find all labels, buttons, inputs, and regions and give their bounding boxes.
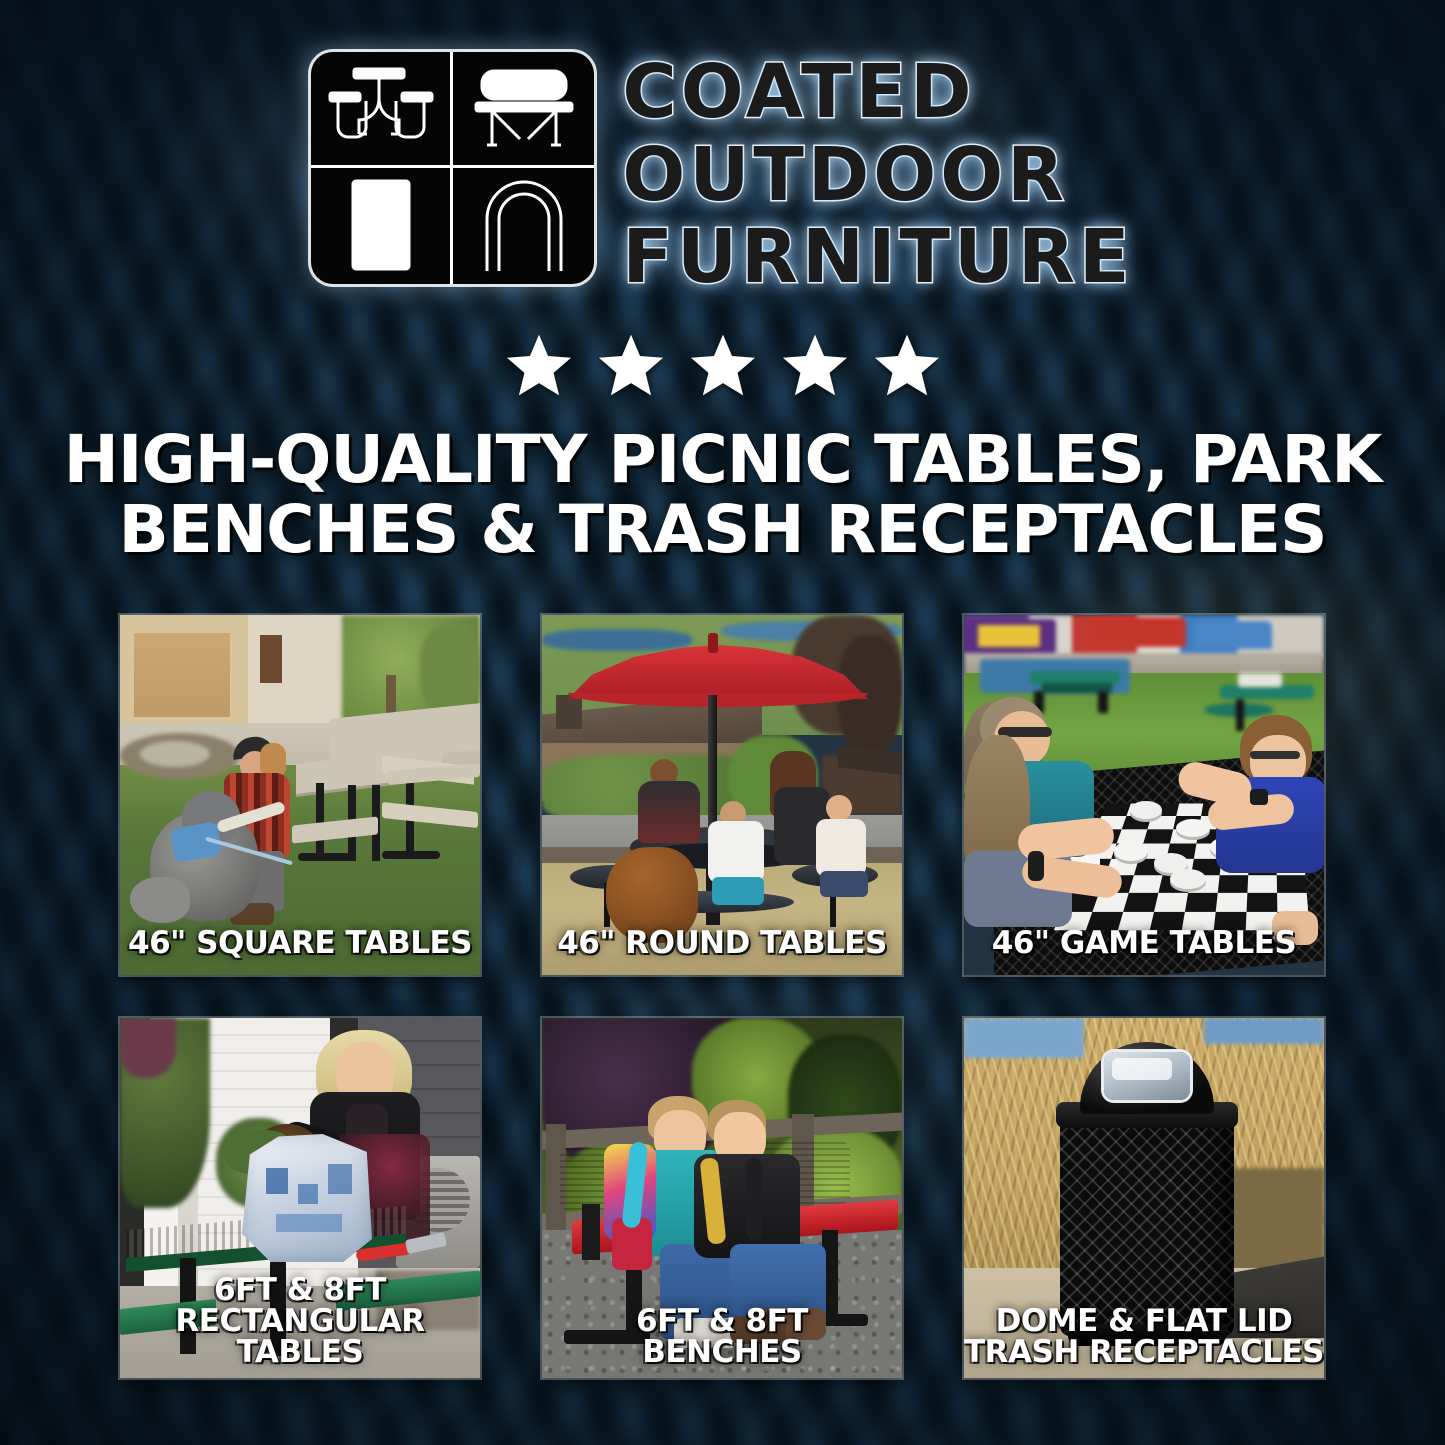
logo-cell-bench bbox=[453, 52, 595, 168]
product-tile-trash-receptacles[interactable]: DOME & FLAT LID TRASH RECEPTACLES bbox=[964, 1018, 1324, 1378]
flat-lid-trash-receptacle-icon bbox=[343, 175, 419, 277]
round-picnic-table-icon bbox=[326, 63, 436, 155]
star-rating bbox=[0, 330, 1445, 400]
tile-caption-game-tables: 46" GAME TABLES bbox=[964, 928, 1324, 959]
logo-cell-round-table bbox=[311, 52, 453, 168]
star-icon-2 bbox=[596, 330, 666, 400]
caption-line-1: 6FT & 8FT bbox=[120, 1275, 480, 1306]
tile-caption-trash-receptacles: DOME & FLAT LID TRASH RECEPTACLES bbox=[964, 1306, 1324, 1368]
brand-word-coated: COATED bbox=[622, 56, 1133, 129]
brand-word-outdoor: OUTDOOR bbox=[622, 139, 1133, 212]
brand-word-furniture: FURNITURE bbox=[622, 221, 1133, 294]
logo-cell-flat-lid-trash bbox=[311, 168, 453, 284]
caption-line-1: 6FT & 8FT bbox=[542, 1306, 902, 1337]
headline: HIGH-QUALITY PICNIC TABLES, PARK BENCHES… bbox=[60, 425, 1385, 565]
caption-line-1: 46" SQUARE TABLES bbox=[120, 928, 480, 959]
product-tile-grid: 46" SQUARE TABLES bbox=[120, 615, 1325, 1378]
headline-line-1: HIGH-QUALITY PICNIC TABLES, PARK bbox=[64, 421, 1382, 498]
product-tile-round-tables[interactable]: 46" ROUND TABLES bbox=[542, 615, 902, 975]
star-icon-3 bbox=[688, 330, 758, 400]
caption-line-1: 46" ROUND TABLES bbox=[542, 928, 902, 959]
headline-line-2: BENCHES & TRASH RECEPTACLES bbox=[60, 495, 1385, 565]
dome-lid-trash-receptacle-icon bbox=[481, 175, 567, 277]
scene-round-tables bbox=[542, 615, 902, 975]
star-icon-1 bbox=[504, 330, 574, 400]
poster-canvas: COATED OUTDOOR FURNITURE HIGH-QUALITY PI… bbox=[0, 0, 1445, 1445]
star-icon-5 bbox=[872, 330, 942, 400]
caption-line-1: 46" GAME TABLES bbox=[964, 928, 1324, 959]
tile-caption-rectangular-tables: 6FT & 8FT RECTANGULAR TABLES bbox=[120, 1275, 480, 1368]
caption-line-2: BENCHES bbox=[542, 1337, 902, 1368]
logo-cell-dome-lid-trash bbox=[453, 168, 595, 284]
scene-game-tables bbox=[964, 615, 1324, 975]
product-tile-benches[interactable]: 6FT & 8FT BENCHES bbox=[542, 1018, 902, 1378]
brand-logo-mark bbox=[311, 52, 594, 284]
star-icon-4 bbox=[780, 330, 850, 400]
bench-icon bbox=[468, 63, 580, 155]
caption-line-1: DOME & FLAT LID bbox=[964, 1306, 1324, 1337]
brand-header: COATED OUTDOOR FURNITURE bbox=[0, 52, 1445, 304]
product-tile-game-tables[interactable]: 46" GAME TABLES bbox=[964, 615, 1324, 975]
scene-square-tables bbox=[120, 615, 480, 975]
caption-line-2: RECTANGULAR TABLES bbox=[120, 1306, 480, 1368]
brand-wordmark: COATED OUTDOOR FURNITURE bbox=[622, 56, 1133, 304]
caption-line-2: TRASH RECEPTACLES bbox=[964, 1337, 1324, 1368]
product-tile-square-tables[interactable]: 46" SQUARE TABLES bbox=[120, 615, 480, 975]
tile-caption-benches: 6FT & 8FT BENCHES bbox=[542, 1306, 902, 1368]
tile-caption-square-tables: 46" SQUARE TABLES bbox=[120, 928, 480, 959]
tile-caption-round-tables: 46" ROUND TABLES bbox=[542, 928, 902, 959]
product-tile-rectangular-tables[interactable]: 6FT & 8FT RECTANGULAR TABLES bbox=[120, 1018, 480, 1378]
